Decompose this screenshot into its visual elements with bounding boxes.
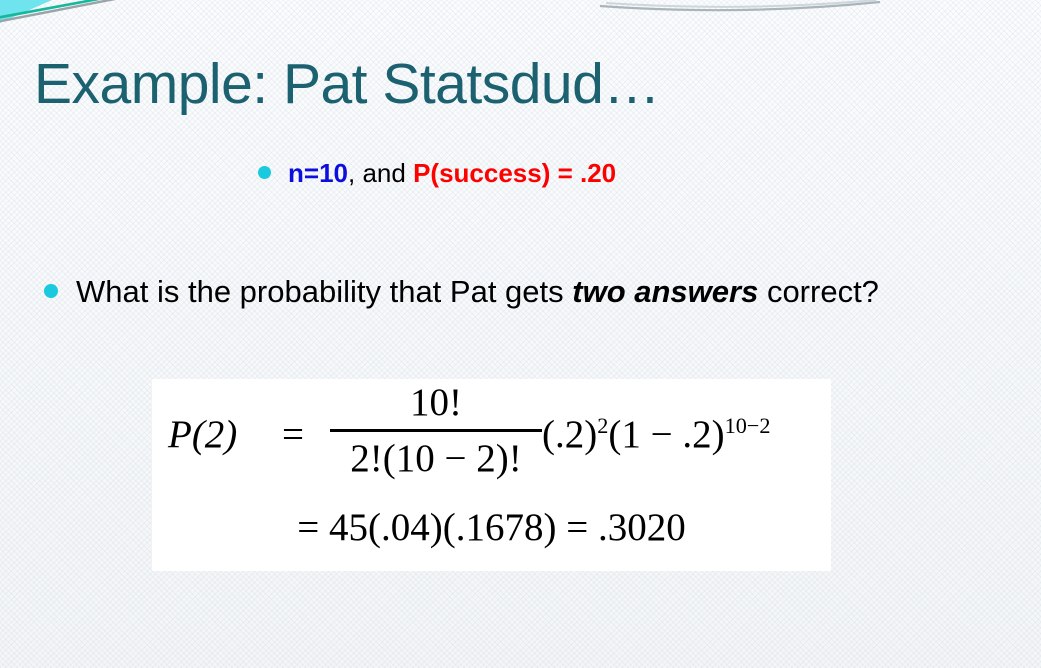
sub-bullet-n-value: n=10 <box>288 158 348 188</box>
sub-bullet-text: n=10, and P(success) = .20 <box>288 157 616 189</box>
question-emphasis: two answers <box>572 274 758 309</box>
diagonal-line-gray-icon <box>0 0 120 22</box>
formula-numerator: 10! <box>330 379 542 429</box>
top-arc-icon <box>600 2 880 10</box>
bullet-dot-icon <box>44 284 58 298</box>
main-bullet-row: What is the probability that Pat gets tw… <box>44 271 984 313</box>
question-tail: correct? <box>758 274 879 309</box>
formula-panel: P(2) = 10! 2!(10 − 2)! (.2)2(1 − .2)10−2… <box>152 379 831 571</box>
formula-tail-base-1: (.2) <box>542 413 597 456</box>
decoration-svg <box>0 0 1041 46</box>
formula-denominator: 2!(10 − 2)! <box>330 432 542 484</box>
sub-bullet-conjunction: , and <box>348 158 413 188</box>
question-lead: What is the probability that Pat gets <box>76 274 572 309</box>
sub-bullet-probability: P(success) = .20 <box>413 158 616 188</box>
top-arc-secondary-icon <box>606 0 876 7</box>
slide-title: Example: Pat Statsdud… <box>34 51 994 117</box>
formula-tail-exponent-2: 10−2 <box>725 413 771 438</box>
slide-canvas: Example: Pat Statsdud… n=10, and P(succe… <box>0 0 1041 668</box>
main-bullet-text: What is the probability that Pat gets tw… <box>76 271 879 313</box>
formula-line-2: = 45(.04)(.1678) = .3020 <box>152 502 831 554</box>
diagonal-line-teal-icon <box>0 0 120 18</box>
slide-top-decoration <box>0 0 1041 46</box>
sub-bullet-row: n=10, and P(success) = .20 <box>258 157 616 189</box>
formula-lhs: P(2) <box>168 412 237 458</box>
bullet-dot-icon <box>258 166 271 179</box>
formula-tail: (.2)2(1 − .2)10−2 <box>542 412 770 458</box>
formula-equals-sign: = <box>282 412 304 458</box>
formula-tail-exponent-1: 2 <box>597 413 608 438</box>
corner-triangle-icon <box>0 0 52 23</box>
formula-fraction: 10! 2!(10 − 2)! <box>330 379 542 484</box>
formula-tail-base-2: (1 − .2) <box>608 413 724 456</box>
